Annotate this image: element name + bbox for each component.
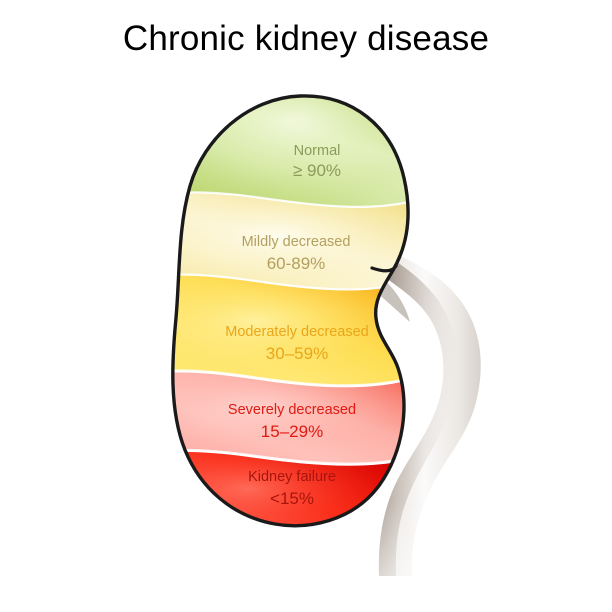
stage-name-kidney-failure: Kidney failure	[248, 469, 336, 485]
kidney-stage-diagram: Normal ≥ 90% Mildly decreased 60-89% Mod…	[0, 0, 612, 612]
stage-range-normal: ≥ 90%	[293, 161, 341, 180]
ureter-bottom-fade	[374, 500, 482, 612]
kidney-body	[150, 60, 430, 560]
stage-name-normal: Normal	[294, 143, 341, 159]
stage-name-mildly-decreased: Mildly decreased	[242, 234, 351, 250]
stage-name-moderately-decreased: Moderately decreased	[225, 324, 368, 340]
stage-label-normal: Normal ≥ 90%	[293, 143, 341, 180]
chronic-kidney-disease-figure: Chronic kidney disease	[0, 0, 612, 612]
stage-range-moderately-decreased: 30–59%	[266, 344, 328, 363]
stage-range-severely-decreased: 15–29%	[261, 422, 323, 441]
stage-range-kidney-failure: <15%	[270, 489, 314, 508]
stage-range-mildly-decreased: 60-89%	[267, 254, 326, 273]
stage-name-severely-decreased: Severely decreased	[228, 402, 356, 418]
